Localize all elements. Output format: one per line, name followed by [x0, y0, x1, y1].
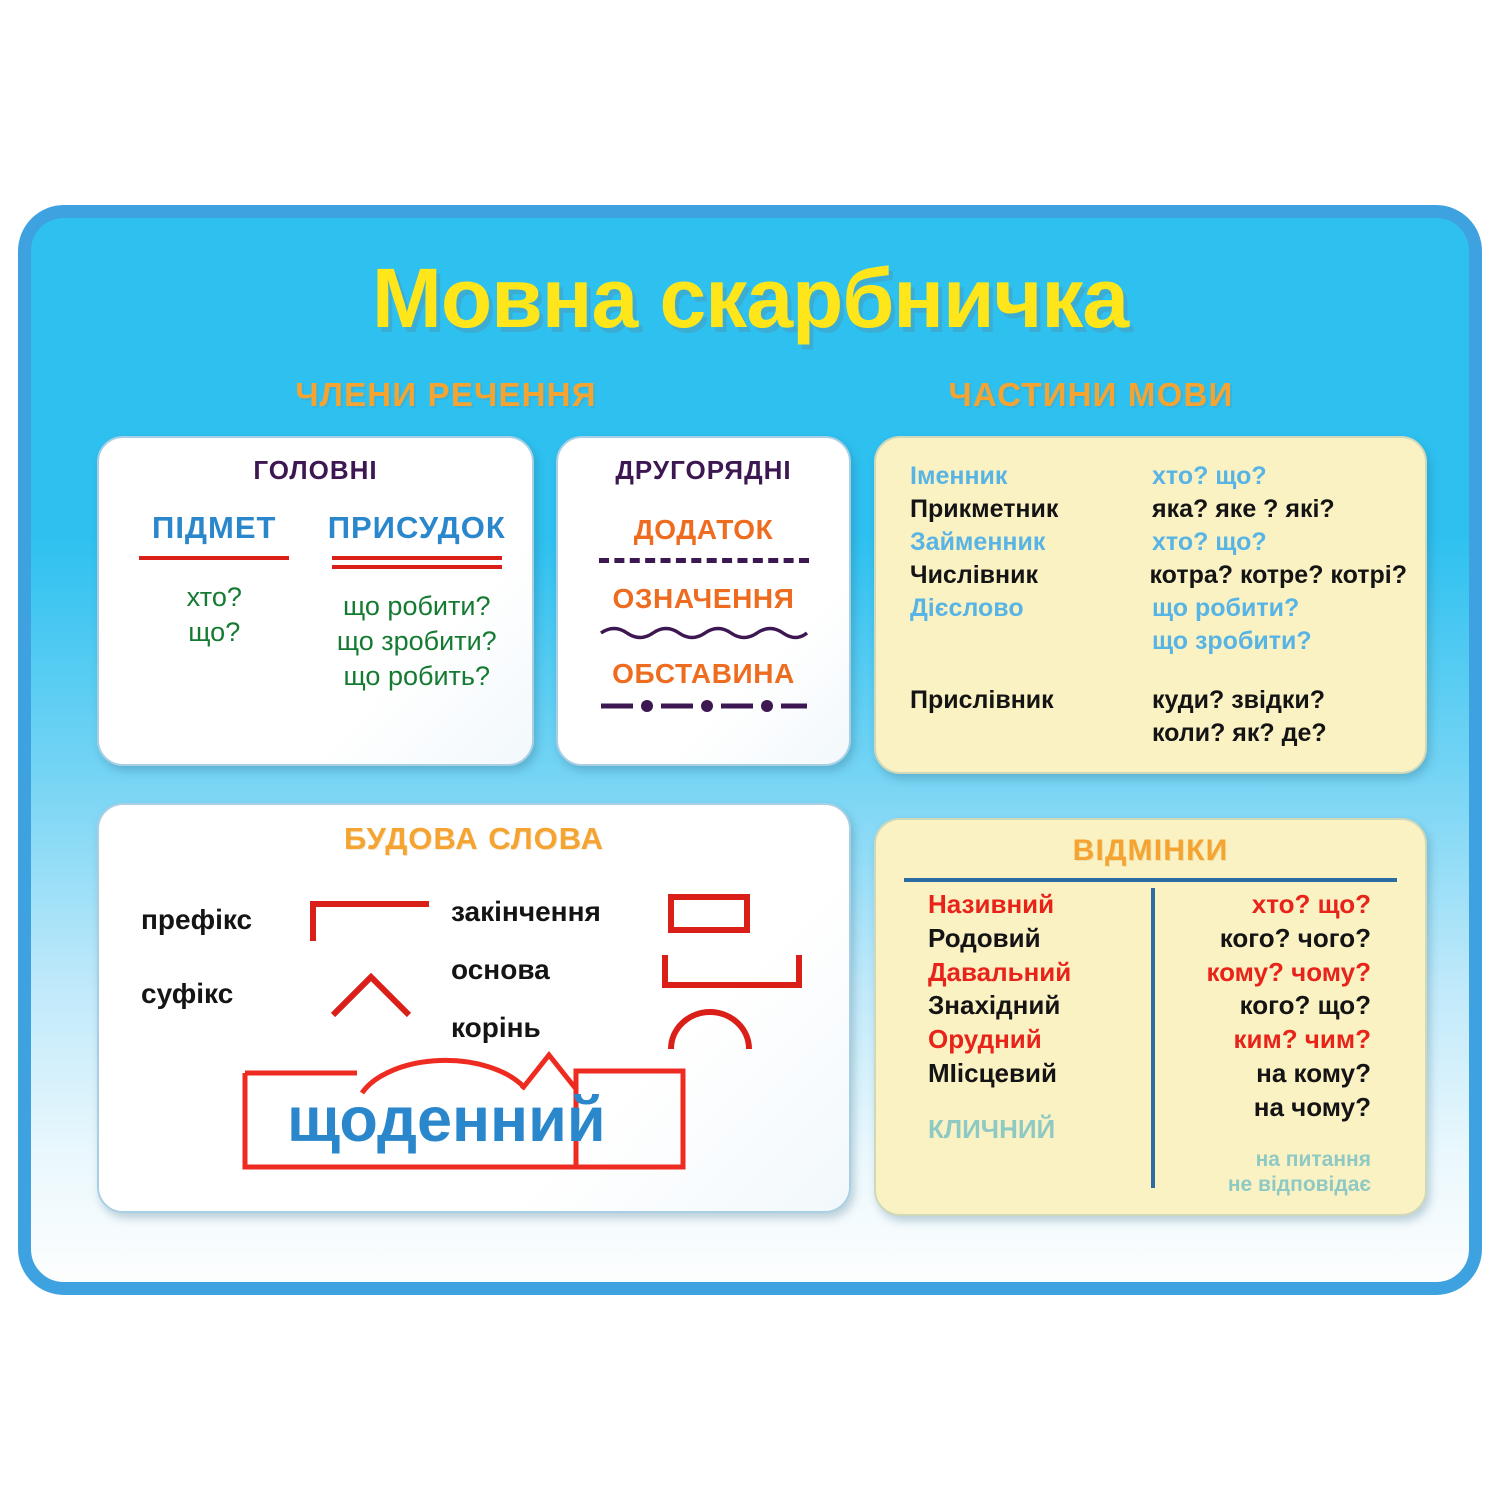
- predicate-double-underline: [332, 556, 502, 569]
- term-attribute: ОЗНАЧЕННЯ: [558, 583, 849, 615]
- cases-name-column: Називний Родовий Давальний Знахідний Ору…: [904, 888, 1150, 1198]
- stem-bracket-icon: [657, 947, 807, 993]
- subject-question-1: хто?: [113, 580, 316, 615]
- part-question: котра? котре? котрі?: [1150, 559, 1408, 592]
- page-title: Мовна скарбничка: [31, 250, 1469, 347]
- legend-item-stem: основа: [451, 941, 807, 999]
- ending-box-icon: [657, 889, 767, 935]
- section-heading-sentence-members: ЧЛЕНИ РЕЧЕННЯ: [131, 376, 761, 414]
- morpheme-legend-left: префікс суфікс: [141, 883, 451, 1057]
- card-title-main-members: ГОЛОВНІ: [99, 455, 532, 486]
- part-name: Прикметник: [910, 493, 1152, 526]
- case-name: Давальний: [928, 956, 1150, 990]
- case-question: на чому?: [1150, 1091, 1372, 1125]
- parts-row: Прикметник яка? яке ? які?: [910, 493, 1407, 526]
- object-dashed-underline: [599, 558, 809, 563]
- main-member-subject: ПІДМЕТ хто? що?: [113, 510, 316, 694]
- card-title-cases: ВІДМІНКИ: [876, 834, 1425, 868]
- predicate-question-3: що робить?: [316, 659, 519, 694]
- legend-item-ending: закінчення: [451, 883, 807, 941]
- case-name: МIісцевий: [928, 1057, 1150, 1091]
- part-name: Іменник: [910, 460, 1152, 493]
- case-name: Орудний: [928, 1023, 1150, 1057]
- predicate-question-1: що робити?: [316, 589, 519, 624]
- section-heading-parts-of-speech: ЧАСТИНИ МОВИ: [776, 376, 1406, 414]
- part-name: Займенник: [910, 526, 1152, 559]
- part-question: коли? як? де?: [1152, 717, 1327, 750]
- parts-row: Іменник хто? що?: [910, 460, 1407, 493]
- term-subject: ПІДМЕТ: [113, 510, 316, 546]
- attribute-wavy-underline: [599, 624, 809, 638]
- parts-list-spacer: [910, 658, 1407, 684]
- parts-row: Дієслово що робити?: [910, 592, 1407, 625]
- part-name: Прислівник: [910, 684, 1152, 717]
- part-question: хто? що?: [1152, 460, 1267, 493]
- legend-label-stem: основа: [451, 954, 641, 986]
- morpheme-legend: префікс суфікс: [99, 883, 849, 1057]
- subject-single-underline: [139, 556, 289, 560]
- part-question: хто? що?: [1152, 526, 1267, 559]
- prefix-bracket-icon: [307, 897, 437, 943]
- part-question: що зробити?: [1152, 625, 1312, 658]
- morpheme-legend-right: закінчення основа: [451, 883, 807, 1057]
- card-title-secondary-members: ДРУГОРЯДНІ: [558, 455, 849, 486]
- part-question: що робити?: [1152, 592, 1299, 625]
- legend-label-prefix: префікс: [141, 904, 291, 936]
- legend-item-suffix: суфікс: [141, 957, 451, 1031]
- card-title-word-structure: БУДОВА СЛОВА: [99, 821, 849, 857]
- case-question: ким? чим?: [1150, 1023, 1372, 1057]
- adverbial-dash-dot-underline: [599, 699, 809, 713]
- cases-table: Називний Родовий Давальний Знахідний Ору…: [876, 888, 1425, 1198]
- case-question: кого? що?: [1150, 989, 1372, 1023]
- suffix-caret-icon: [307, 971, 437, 1017]
- term-predicate: ПРИСУДОК: [316, 510, 519, 546]
- subject-questions: хто? що?: [113, 580, 316, 650]
- legend-label-ending: закінчення: [451, 896, 641, 928]
- card-parts-of-speech: Іменник хто? що? Прикметник яка? яке ? я…: [874, 436, 1427, 774]
- parts-of-speech-list: Іменник хто? що? Прикметник яка? яке ? я…: [910, 460, 1407, 750]
- parts-row: що зробити?: [910, 625, 1407, 658]
- case-name-vocative: КЛИЧНИЙ: [928, 1113, 1150, 1147]
- poster-inner: Мовна скарбничка ЧЛЕНИ РЕЧЕННЯ ЧАСТИНИ М…: [31, 218, 1469, 1282]
- case-question: хто? що?: [1150, 888, 1372, 922]
- parts-row: Прислівник куди? звідки?: [910, 684, 1407, 717]
- main-member-predicate: ПРИСУДОК що робити? що зробити? що робит…: [316, 510, 519, 694]
- term-object: ДОДАТОК: [558, 514, 849, 546]
- cases-question-column: хто? що? кого? чого? кому? чому? кого? щ…: [1150, 888, 1398, 1198]
- card-word-structure: БУДОВА СЛОВА префікс суфікс: [97, 803, 851, 1213]
- part-name: [910, 625, 1152, 658]
- subject-question-2: що?: [113, 615, 316, 650]
- part-name: Числівник: [910, 559, 1150, 592]
- vocative-note-line-2: не відповідає: [1150, 1172, 1372, 1198]
- part-name: [910, 717, 1152, 750]
- case-question: на кому?: [1150, 1057, 1372, 1091]
- term-adverbial: ОБСТАВИНА: [558, 658, 849, 690]
- case-question: кого? чого?: [1150, 922, 1372, 956]
- main-members-columns: ПІДМЕТ хто? що? ПРИСУДОК що робити? що з…: [99, 510, 532, 694]
- case-name: Знахідний: [928, 989, 1150, 1023]
- case-question: кому? чому?: [1150, 956, 1372, 990]
- predicate-questions: що робити? що зробити? що робить?: [316, 589, 519, 694]
- word-analysis-diagram: щоденний: [229, 1037, 729, 1197]
- part-question: яка? яке ? які?: [1152, 493, 1335, 526]
- legend-label-suffix: суфікс: [141, 978, 291, 1010]
- cases-column-spacer: [1150, 1125, 1372, 1147]
- card-cases: ВІДМІНКИ Називний Родовий Давальний Знах…: [874, 818, 1427, 1216]
- parts-row: Числівник котра? котре? котрі?: [910, 559, 1407, 592]
- poster-frame: Мовна скарбничка ЧЛЕНИ РЕЧЕННЯ ЧАСТИНИ М…: [18, 205, 1482, 1295]
- card-main-members: ГОЛОВНІ ПІДМЕТ хто? що? ПРИСУДОК що роби…: [97, 436, 534, 766]
- part-question: куди? звідки?: [1152, 684, 1325, 717]
- cases-horizontal-rule: [904, 878, 1397, 882]
- predicate-question-2: що зробити?: [316, 624, 519, 659]
- legend-item-prefix: префікс: [141, 883, 451, 957]
- vocative-note-line-1: на питання: [1150, 1147, 1372, 1173]
- cases-vertical-rule: [1151, 888, 1155, 1188]
- case-name: Родовий: [928, 922, 1150, 956]
- example-word: щоденний: [287, 1084, 606, 1156]
- parts-row: коли? як? де?: [910, 717, 1407, 750]
- parts-row: Займенник хто? що?: [910, 526, 1407, 559]
- cases-column-spacer: [928, 1091, 1150, 1113]
- card-secondary-members: ДРУГОРЯДНІ ДОДАТОК ОЗНАЧЕННЯ ОБСТАВИНА: [556, 436, 851, 766]
- case-name: Називний: [928, 888, 1150, 922]
- part-name: Дієслово: [910, 592, 1152, 625]
